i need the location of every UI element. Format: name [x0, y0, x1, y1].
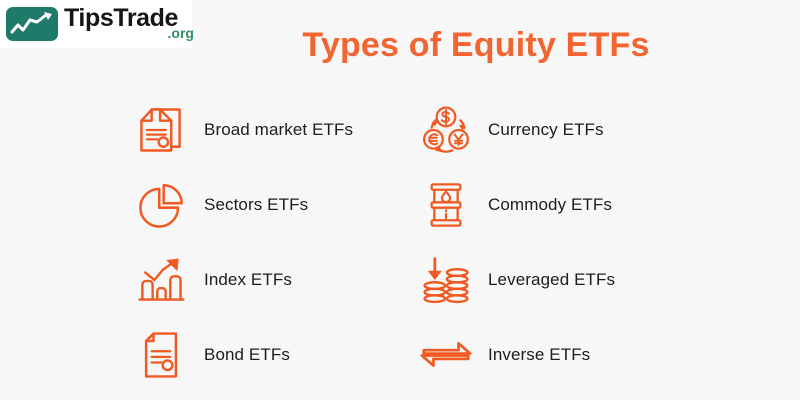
- chart-uptrend-logo-icon: [6, 7, 58, 41]
- brand-wordmark: TipsTrade .org: [64, 4, 192, 44]
- list-item-inverse[interactable]: Inverse ETFs: [418, 317, 692, 392]
- infographic-canvas: TipsTrade .org Types of Equity ETFs: [0, 0, 800, 400]
- documents-icon: [132, 101, 190, 159]
- list-item-leveraged[interactable]: Leveraged ETFs: [418, 242, 692, 317]
- currency-exchange-coins-icon: [418, 101, 474, 159]
- list-item-label: Inverse ETFs: [488, 345, 590, 365]
- list-item-label: Index ETFs: [204, 270, 292, 290]
- list-item-index[interactable]: Index ETFs: [132, 242, 418, 317]
- etf-types-grid: Broad market ETFs: [132, 92, 692, 392]
- bar-chart-uptrend-icon: [132, 251, 190, 309]
- list-item-label: Currency ETFs: [488, 120, 604, 140]
- certificate-document-icon: [132, 326, 190, 384]
- brand-tld: .org: [168, 26, 194, 40]
- two-way-arrows-icon: [418, 326, 474, 384]
- list-item-commody[interactable]: Commody ETFs: [418, 167, 692, 242]
- list-item-label: Broad market ETFs: [204, 120, 353, 140]
- oil-barrel-icon: [418, 176, 474, 234]
- list-item-sectors[interactable]: Sectors ETFs: [132, 167, 418, 242]
- page-title: Types of Equity ETFs: [196, 26, 756, 65]
- list-item-broad-market[interactable]: Broad market ETFs: [132, 92, 418, 167]
- pie-chart-icon: [132, 176, 190, 234]
- list-item-label: Sectors ETFs: [204, 195, 308, 215]
- brand-logo[interactable]: TipsTrade .org: [0, 0, 192, 48]
- brand-name: TipsTrade: [64, 5, 178, 31]
- list-item-label: Commody ETFs: [488, 195, 612, 215]
- list-item-label: Leveraged ETFs: [488, 270, 615, 290]
- coin-stacks-down-arrow-icon: [418, 251, 474, 309]
- list-item-bond[interactable]: Bond ETFs: [132, 317, 418, 392]
- list-item-label: Bond ETFs: [204, 345, 290, 365]
- list-item-currency[interactable]: Currency ETFs: [418, 92, 692, 167]
